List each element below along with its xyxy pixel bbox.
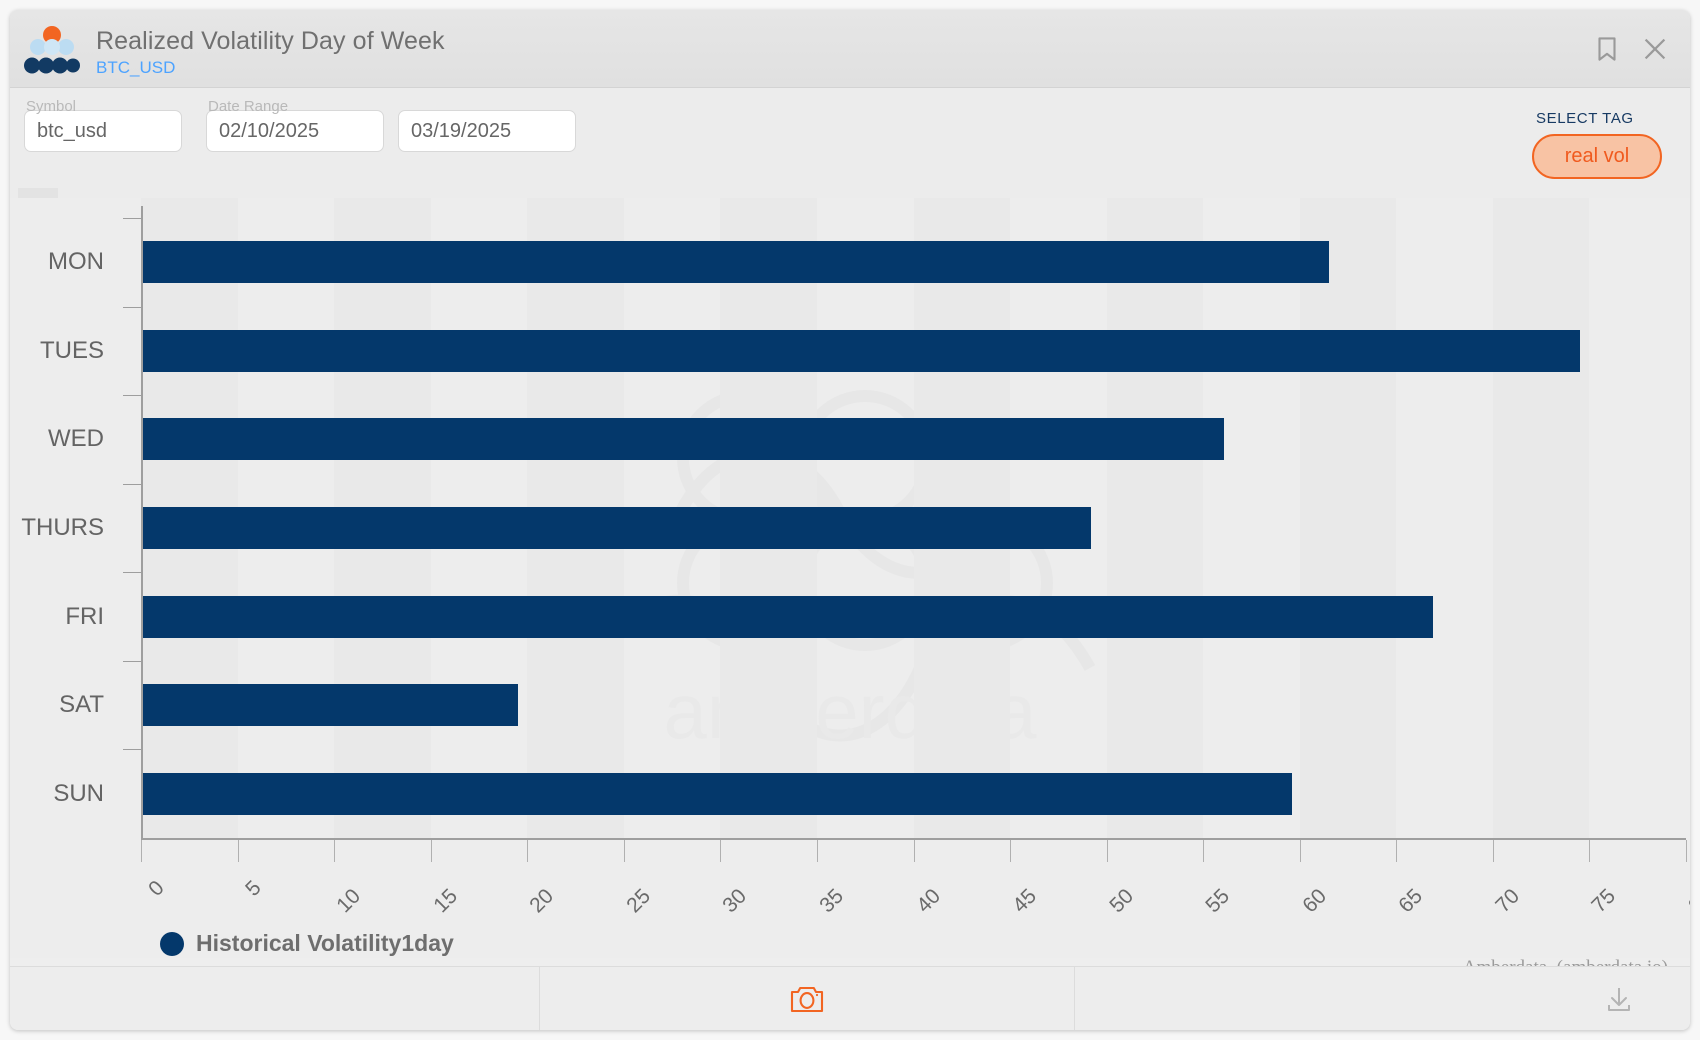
- x-axis-label-75: 75: [1588, 885, 1621, 918]
- x-axis-label-55: 55: [1202, 885, 1235, 918]
- toolbar-cell-left: [10, 967, 540, 1030]
- y-axis-label-wed: WED: [48, 425, 104, 453]
- x-axis-label-60: 60: [1298, 885, 1331, 918]
- select-tag-label: SELECT TAG: [1532, 110, 1662, 127]
- date-range-field-group: Date Range: [206, 110, 384, 152]
- x-tick: [914, 840, 915, 862]
- y-tick: [123, 661, 141, 662]
- y-tick: [123, 307, 141, 308]
- x-tick: [1396, 840, 1397, 862]
- symbol-field-group: Symbol: [24, 110, 182, 152]
- controls-bar: Symbol Date Range SELECT TAG real vol: [10, 88, 1690, 198]
- x-axis-label-45: 45: [1008, 885, 1041, 918]
- date-range-start-input[interactable]: [206, 110, 384, 152]
- x-axis-label-70: 70: [1491, 885, 1524, 918]
- bottom-toolbar: [10, 966, 1690, 1030]
- screenshot-button[interactable]: [540, 967, 1075, 1030]
- chart-plot-area: amberdata MONTUESWEDTHURSFRISATSUN 05101…: [10, 198, 1690, 958]
- page-title: Realized Volatility Day of Week: [96, 26, 445, 56]
- title-bar: Realized Volatility Day of Week BTC_USD: [10, 10, 1690, 88]
- select-tag-group: SELECT TAG real vol: [1532, 110, 1662, 179]
- x-tick: [624, 840, 625, 862]
- x-axis-label-0: 0: [144, 876, 169, 901]
- y-axis-label-sun: SUN: [53, 780, 104, 808]
- x-tick: [720, 840, 721, 862]
- x-axis-label-30: 30: [719, 885, 752, 918]
- chart-window: Realized Volatility Day of Week BTC_USD …: [10, 10, 1690, 1030]
- x-axis-label-25: 25: [622, 885, 655, 918]
- download-icon: [1603, 983, 1635, 1015]
- x-axis-label-50: 50: [1105, 885, 1138, 918]
- close-icon[interactable]: [1640, 34, 1670, 64]
- amberdata-logo-icon: [24, 24, 80, 76]
- chart-legend[interactable]: Historical Volatility1day: [160, 930, 454, 957]
- x-tick: [817, 840, 818, 862]
- y-axis-label-mon: MON: [48, 248, 104, 276]
- bar-tues[interactable]: [143, 330, 1580, 372]
- x-axis-label-15: 15: [429, 885, 462, 918]
- y-axis-label-sat: SAT: [59, 691, 104, 719]
- x-tick: [141, 840, 142, 862]
- page-subtitle: BTC_USD: [96, 57, 445, 79]
- bookmark-icon[interactable]: [1592, 34, 1622, 64]
- date-range-label: Date Range: [208, 98, 288, 115]
- background-band: [1107, 198, 1204, 838]
- y-tick: [123, 572, 141, 573]
- y-axis-label-tues: TUES: [40, 337, 104, 365]
- x-axis-label-10: 10: [332, 885, 365, 918]
- background-band: [1300, 198, 1397, 838]
- bar-mon[interactable]: [143, 241, 1329, 283]
- download-button[interactable]: [1075, 967, 1690, 1030]
- x-tick: [431, 840, 432, 862]
- bar-sun[interactable]: [143, 773, 1292, 815]
- x-tick: [1010, 840, 1011, 862]
- legend-swatch-icon: [160, 932, 184, 956]
- y-tick: [123, 395, 141, 396]
- y-axis-label-fri: FRI: [65, 603, 104, 631]
- bar-fri[interactable]: [143, 596, 1433, 638]
- tag-chip-real-vol[interactable]: real vol: [1532, 134, 1662, 179]
- bar-sat[interactable]: [143, 684, 518, 726]
- symbol-label: Symbol: [26, 98, 76, 115]
- legend-label: Historical Volatility1day: [196, 930, 454, 957]
- bar-wed[interactable]: [143, 418, 1224, 460]
- x-tick: [1686, 840, 1687, 862]
- bar-thurs[interactable]: [143, 507, 1091, 549]
- y-tick: [123, 749, 141, 750]
- y-tick: [123, 218, 141, 219]
- date-range-end-group: [398, 110, 576, 152]
- x-tick: [1107, 840, 1108, 862]
- x-axis-label-80: 80: [1684, 885, 1690, 918]
- x-tick: [334, 840, 335, 862]
- title-block: Realized Volatility Day of Week BTC_USD: [96, 26, 445, 79]
- background-band: [1493, 198, 1590, 838]
- controls-accent-bar: [18, 188, 58, 198]
- x-tick: [1493, 840, 1494, 862]
- x-tick: [1300, 840, 1301, 862]
- y-tick: [123, 484, 141, 485]
- x-axis-label-35: 35: [815, 885, 848, 918]
- x-tick: [1589, 840, 1590, 862]
- x-axis-label-40: 40: [912, 885, 945, 918]
- x-tick: [527, 840, 528, 862]
- date-range-end-input[interactable]: [398, 110, 576, 152]
- camera-icon: [790, 984, 824, 1014]
- x-tick: [1203, 840, 1204, 862]
- x-axis-label-20: 20: [526, 885, 559, 918]
- x-axis-label-65: 65: [1395, 885, 1428, 918]
- symbol-input[interactable]: [24, 110, 182, 152]
- x-tick: [238, 840, 239, 862]
- y-axis-label-thurs: THURS: [21, 514, 104, 542]
- x-axis-label-5: 5: [241, 876, 266, 901]
